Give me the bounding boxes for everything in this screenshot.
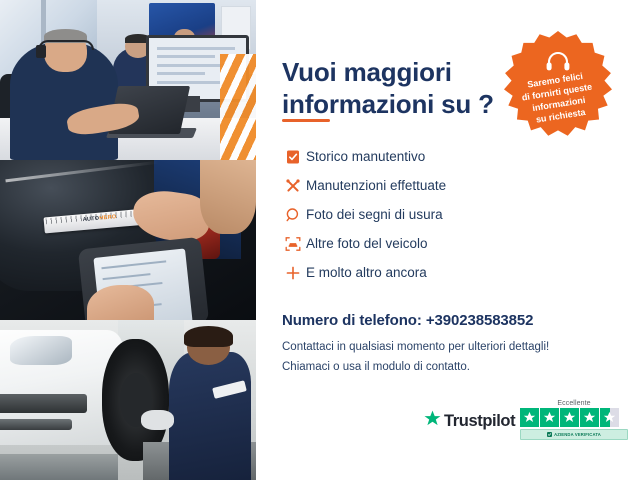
trustpilot-rating: Eccellente AZIENDA VERIFICATA: [520, 400, 628, 440]
star-filled-icon: [560, 408, 579, 427]
rating-label: Eccellente: [520, 400, 628, 407]
trustpilot-name: Trustpilot: [444, 412, 515, 431]
headline-line-1: Vuoi maggiori: [282, 57, 452, 87]
car-grille-upper: [0, 394, 87, 413]
list-item-label: Altre foto del veicolo: [306, 236, 428, 251]
car-grille-lower: [0, 419, 72, 430]
monitor-row: [157, 72, 206, 75]
contact-subtitle-line-2: Chiamaci o usa il modulo di contatto.: [282, 361, 470, 373]
title-underline-divider: [282, 119, 330, 122]
list-item-label: Manutenzioni effettuate: [306, 178, 446, 193]
photo-column: AUTOHERO: [0, 0, 256, 480]
monitor-row: [157, 81, 221, 84]
callout-badge: Saremo felici di fornirti queste informa…: [504, 31, 612, 139]
list-item: Altre foto del veicolo: [280, 229, 560, 258]
feature-list: Storico manutentivo Manutenzioni effettu…: [280, 142, 560, 287]
car-headlight: [10, 336, 71, 365]
page-title: Vuoi maggiori informazioni su ?: [282, 57, 542, 120]
photo-technician-inspecting-white-car-on-lift: [0, 320, 256, 480]
monitor-row: [157, 55, 215, 58]
trustpilot-logo: Trustpilot: [424, 410, 515, 432]
striped-banner: [220, 54, 256, 160]
list-item: Manutenzioni effettuate: [280, 171, 560, 200]
list-item-label: E molto altro ancora: [306, 265, 427, 280]
contact-subtitle-line-1: Contattaci in qualsiasi momento per ulte…: [282, 341, 549, 353]
crossed-tools-icon: [280, 178, 306, 194]
list-item: E molto altro ancora: [280, 258, 560, 287]
photo-autohero-measuring-scale-on-dark-car-with-tablet: AUTOHERO: [0, 160, 256, 320]
phone-number[interactable]: Numero di telefono: +390238583852: [282, 312, 533, 329]
list-item: Storico manutentivo: [280, 142, 560, 171]
technician-body: [169, 352, 251, 480]
technician-hair: [184, 326, 233, 347]
star-half-icon: [600, 408, 619, 427]
list-item: Foto dei segni di usura: [280, 200, 560, 229]
plus-icon: [280, 265, 306, 281]
tablet-row: [102, 261, 166, 270]
content-panel: Vuoi maggiori informazioni su ? Storico …: [256, 0, 640, 480]
verified-check-icon: [547, 432, 552, 437]
tablet-row: [103, 273, 151, 280]
star-filled-icon: [520, 408, 539, 427]
magnifier-icon: [280, 207, 306, 223]
star-rating: [520, 408, 628, 427]
trustpilot-widget[interactable]: Trustpilot Eccellente AZIENDA VERIFICATA: [424, 400, 628, 448]
trustpilot-star-icon: [424, 410, 441, 432]
monitor-row: [157, 47, 235, 50]
car-lift-platform: [0, 454, 118, 480]
headset-band-icon: [38, 40, 93, 50]
inspector-arm: [200, 160, 256, 234]
headline-line-2: informazioni su ?: [282, 89, 494, 119]
headset-earpiece-icon: [36, 45, 46, 58]
list-item-label: Foto dei segni di usura: [306, 207, 443, 222]
car-scan-frame-icon: [280, 236, 306, 252]
clipboard-check-icon: [280, 149, 306, 165]
verified-label: AZIENDA VERIFICATA: [554, 432, 601, 437]
photo-call-center-agents-with-headsets: [0, 0, 256, 160]
technician-glove: [141, 410, 174, 431]
promo-banner: AUTOHERO: [0, 0, 640, 480]
star-filled-icon: [540, 408, 559, 427]
monitor-row: [157, 64, 227, 67]
star-filled-icon: [580, 408, 599, 427]
verified-company-badge: AZIENDA VERIFICATA: [520, 429, 628, 440]
list-item-label: Storico manutentivo: [306, 149, 425, 164]
